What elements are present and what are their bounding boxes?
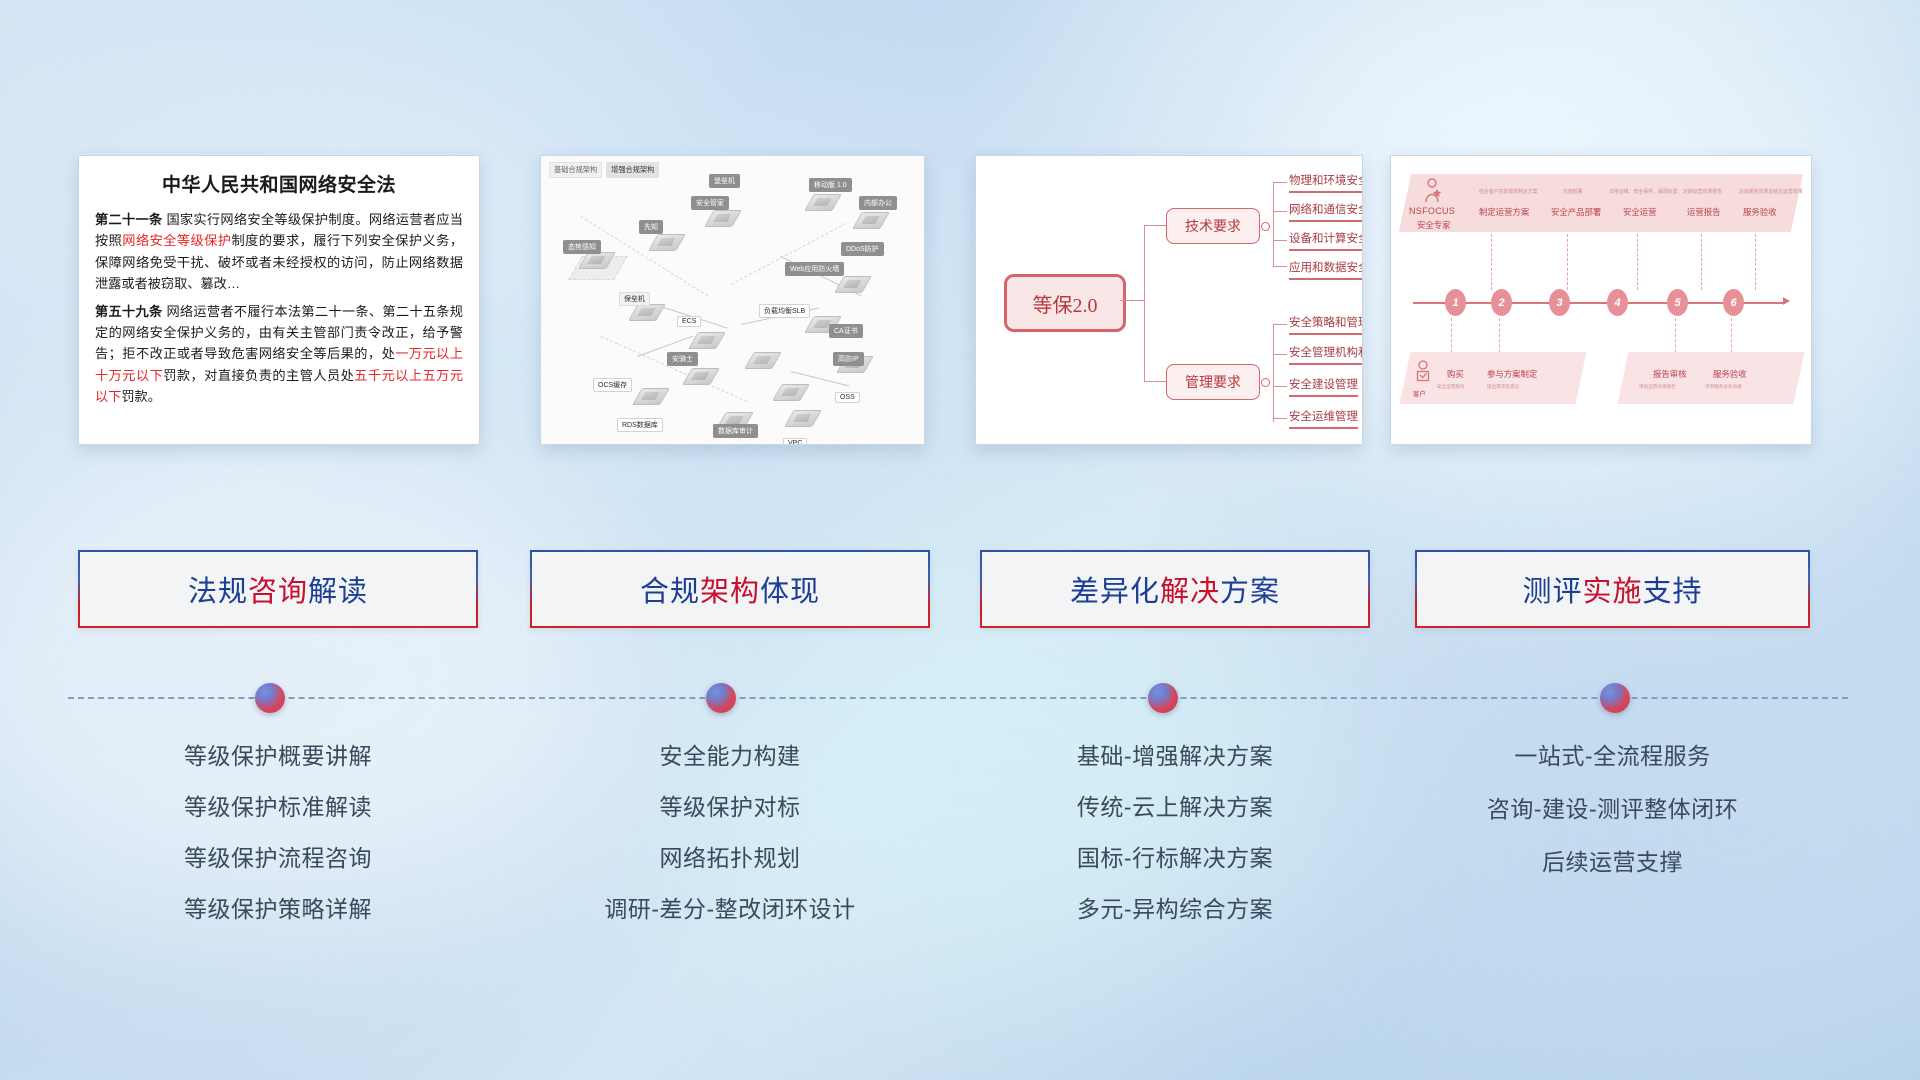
mindmap-leaf: 物理和环境安全 (1289, 172, 1363, 193)
category-label-1: 法规咨询解读 (188, 568, 368, 610)
law-title: 中华人民共和国网络安全法 (95, 170, 463, 197)
customer-person-icon (1415, 360, 1433, 389)
category-box-regulation[interactable]: 法规咨询解读 (78, 550, 478, 628)
category-box-architecture[interactable]: 合规架构体现 (530, 550, 930, 628)
arch-node-ddos: DDoS防护 (841, 242, 884, 256)
arch-node-bastion-2: 保垒机 (619, 292, 650, 306)
category-label-4: 测评实施支持 (1522, 568, 1702, 610)
timeline-stem (1567, 234, 1568, 290)
timeline-bottom-label: 服务验收 (1713, 368, 1747, 380)
mindmap-leaf: 设备和计算安全 (1289, 230, 1363, 251)
mindmap-leaf: 安全管理机构和人员 (1289, 344, 1363, 365)
list-item: 网络拓扑规划 (530, 847, 930, 870)
timeline-bottom-note: 审核运营效果报告 (1639, 384, 1676, 390)
arch-node-situational: 态势感知 (563, 240, 601, 254)
category-box-solution[interactable]: 差异化解决方案 (980, 550, 1370, 628)
article-21-label: 第二十一条 (95, 212, 162, 227)
list-item: 国标-行标解决方案 (980, 847, 1370, 870)
mindmap-connector (1273, 418, 1287, 419)
timeline-top-band (1399, 174, 1803, 232)
timeline-top-note: 日常运维、安全事件、漏洞处置 (1609, 188, 1677, 195)
brand-subtitle: 安全专家 (1417, 219, 1451, 231)
timeline-top-label: 运营报告 (1687, 206, 1721, 218)
category-label-3: 差异化解决方案 (1070, 568, 1280, 610)
arch-node-rds: RDS数据库 (617, 418, 663, 432)
mindmap-connector (1273, 240, 1287, 241)
timeline-step-5: 5 (1667, 289, 1688, 316)
expert-person-icon (1423, 178, 1443, 209)
detail-list-2: 安全能力构建 等级保护对标 网络拓扑规划 调研-差分-整改闭环设计 (530, 745, 930, 949)
mindmap-node-dot (1261, 222, 1270, 231)
arch-node-security-butler: 安全管家 (691, 196, 729, 210)
category-3-part-c: 方案 (1220, 576, 1280, 608)
detail-list-2-items: 安全能力构建 等级保护对标 网络拓扑规划 调研-差分-整改闭环设计 (530, 745, 930, 921)
mindmap-card: 等保2.0 技术要求 物理和环境安全 网络和通信安全 设备和计算安全 应用和数据… (975, 155, 1363, 445)
detail-list-1: 等级保护概要讲解 等级保护标准解读 等级保护流程咨询 等级保护策略详解 (78, 745, 478, 949)
list-item: 等级保护概要讲解 (78, 745, 478, 768)
list-item: 等级保护标准解读 (78, 796, 478, 819)
mindmap-leaf: 安全运维管理 (1289, 408, 1358, 429)
arch-cube (704, 210, 742, 227)
article-59-post: 罚款。 (121, 389, 161, 404)
arch-node-vpc: VPC (783, 438, 807, 445)
rail-bead-1 (255, 683, 285, 713)
rail-bead-3 (1148, 683, 1178, 713)
list-item: 等级保护对标 (530, 796, 930, 819)
timeline-top-label: 安全运营 (1623, 206, 1657, 218)
mindmap-branch-management: 管理要求 (1166, 364, 1260, 400)
mindmap-connector (1273, 354, 1287, 355)
arch-cube (784, 410, 822, 427)
arch-node-anqishi: 安骑士 (667, 352, 698, 366)
category-box-assessment[interactable]: 测评实施支持 (1415, 550, 1810, 628)
category-4-part-b: 实施 (1582, 576, 1642, 608)
law-card: 中华人民共和国网络安全法 第二十一条 国家实行网络安全等级保护制度。网络运营者应… (78, 155, 480, 445)
category-2-part-b: 架构 (700, 576, 760, 608)
category-4-part-c: 支持 (1643, 576, 1703, 608)
arch-node-ocs: OCS缓存 (593, 378, 632, 392)
timeline-top-label: 制定运营方案 (1479, 206, 1529, 218)
list-item: 等级保护策略详解 (78, 898, 478, 921)
timeline-bottom-label: 参与方案制定 (1487, 368, 1537, 380)
timeline-bottom-note: 安全运营服务 (1437, 384, 1465, 390)
mindmap-leaf: 安全策略和管理制度 (1289, 314, 1363, 335)
mindmap-connector (1273, 182, 1274, 266)
arch-node-ecs: ECS (677, 316, 701, 327)
architecture-card: 基础合规架构 增强合规架构 (540, 155, 925, 445)
category-2-part-c: 体现 (760, 576, 820, 608)
timeline-step-1: 1 (1445, 289, 1466, 316)
mindmap-connector (1144, 225, 1166, 226)
timeline-bottom-note: 提出需求及建议 (1487, 384, 1519, 390)
architecture-canvas: 态势感知 先知 安全管家 堡垒机 保垒机 ECS 安骑士 OCS缓存 RDS数据… (541, 156, 924, 444)
mindmap-connector (1144, 300, 1145, 381)
arch-node-ca: CA证书 (829, 324, 863, 338)
mindmap-connector (1273, 266, 1287, 267)
timeline-step-3: 3 (1549, 289, 1570, 316)
slide-stage: 中华人民共和国网络安全法 第二十一条 国家实行网络安全等级保护制度。网络运营者应… (0, 0, 1920, 1080)
mindmap-node-dot (1261, 378, 1270, 387)
category-2-part-a: 合规 (640, 576, 700, 608)
arch-cube (648, 234, 686, 251)
category-1-part-c: 解读 (308, 576, 368, 608)
timeline-bottom-label: 购买 (1447, 368, 1464, 380)
article-59-mid: 罚款，对直接负责的主管人员处 (163, 368, 354, 383)
arch-node-slb: 负载均衡SLB (759, 304, 810, 318)
mindmap-connector (1273, 211, 1287, 212)
arch-node-waf: Web应用防火墙 (785, 262, 844, 276)
service-timeline: NSFOCUS 安全专家 结合客户实际需求制定方案 实施部署 日常运维、安全事件… (1391, 156, 1811, 444)
architecture-diagram: 基础合规架构 增强合规架构 (541, 156, 924, 444)
arch-cube (688, 332, 726, 349)
arch-cube (682, 368, 720, 385)
arch-cube (852, 212, 890, 229)
category-4-part-a: 测评 (1522, 576, 1582, 608)
arch-cube (772, 384, 810, 401)
timeline-bottom-band-right (1617, 352, 1804, 404)
timeline-bottom-note: 评审服务总体效果 (1705, 384, 1742, 390)
mindmap: 等保2.0 技术要求 物理和环境安全 网络和通信安全 设备和计算安全 应用和数据… (976, 156, 1362, 444)
customer-label: 客户 (1413, 389, 1426, 398)
list-item: 调研-差分-整改闭环设计 (530, 898, 930, 921)
list-item: 多元-异构综合方案 (980, 898, 1370, 921)
rail-bead-4 (1600, 683, 1630, 713)
law-body: 中华人民共和国网络安全法 第二十一条 国家实行网络安全等级保护制度。网络运营者应… (79, 156, 479, 444)
arch-cube (628, 304, 666, 321)
article-59-label: 第五十九条 (95, 304, 162, 319)
law-article-21: 第二十一条 国家实行网络安全等级保护制度。网络运营者应当按照网络安全等级保护制度… (95, 209, 463, 295)
detail-list-1-items: 等级保护概要讲解 等级保护标准解读 等级保护流程咨询 等级保护策略详解 (78, 745, 478, 921)
timeline-step-4: 4 (1607, 289, 1628, 316)
mindmap-connector (1273, 324, 1274, 422)
mindmap-connector (1273, 386, 1287, 387)
timeline-top-label: 安全产品部署 (1551, 206, 1601, 218)
arch-cube (632, 388, 670, 405)
arch-link (601, 336, 748, 402)
timeline-arrow-icon (1783, 297, 1790, 305)
timeline-stem (1755, 234, 1756, 290)
mindmap-leaf: 应用和数据安全 (1289, 259, 1363, 280)
list-item: 等级保护流程咨询 (78, 847, 478, 870)
mindmap-branch-technical: 技术要求 (1166, 208, 1260, 244)
category-3-part-a: 差异化 (1070, 576, 1160, 608)
mindmap-leaf: 安全建设管理 (1289, 376, 1358, 397)
category-1-part-a: 法规 (188, 576, 248, 608)
timeline-step-2: 2 (1491, 289, 1512, 316)
category-3-part-b: 解决 (1160, 576, 1220, 608)
arch-node-office: 内部办公 (859, 196, 897, 210)
arch-node-bastion: 堡垒机 (709, 174, 740, 188)
mindmap-root: 等保2.0 (1004, 274, 1126, 332)
arch-node-oss: OSS (835, 392, 860, 403)
timeline-stem (1637, 234, 1638, 290)
detail-list-3: 基础-增强解决方案 传统-云上解决方案 国标-行标解决方案 多元-异构综合方案 (980, 745, 1370, 949)
timeline-step-6: 6 (1723, 289, 1744, 316)
timeline-rail (68, 697, 1848, 699)
law-article-59: 第五十九条 网络运营者不履行本法第二十一条、第二十五条规定的网络安全保护义务的，… (95, 301, 463, 408)
list-item: 安全能力构建 (530, 745, 930, 768)
mindmap-connector (1144, 225, 1145, 303)
category-1-part-b: 咨询 (248, 576, 308, 608)
timeline-top-label: 服务验收 (1743, 206, 1777, 218)
category-label-2: 合规架构体现 (640, 568, 820, 610)
mindmap-leaf: 网络和通信安全 (1289, 201, 1363, 222)
list-item: 一站式-全流程服务 (1415, 745, 1810, 768)
arch-node-db-audit: 数据库审计 (713, 424, 758, 438)
arch-node-highdefense-ip: 高防IP (833, 352, 864, 366)
arch-cube (804, 194, 842, 211)
mindmap-connector (1273, 324, 1287, 325)
mindmap-connector (1144, 381, 1166, 382)
article-21-highlight: 网络安全等级保护 (122, 233, 231, 248)
timeline-stem (1701, 234, 1702, 290)
detail-list-4: 一站式-全流程服务 咨询-建设-测评整体闭环 后续运营支撑 (1415, 745, 1810, 904)
timeline-top-note: 结合客户实际需求制定方案 (1479, 188, 1538, 195)
timeline-stem (1491, 234, 1492, 290)
list-item: 咨询-建设-测评整体闭环 (1415, 798, 1810, 821)
list-item: 传统-云上解决方案 (980, 796, 1370, 819)
arch-cube (744, 352, 782, 369)
detail-list-4-items: 一站式-全流程服务 咨询-建设-测评整体闭环 后续运营支撑 (1415, 745, 1810, 874)
detail-list-3-items: 基础-增强解决方案 传统-云上解决方案 国标-行标解决方案 多元-异构综合方案 (980, 745, 1370, 921)
timeline-top-note: 总体服务效果总结及运营成果 (1739, 188, 1803, 195)
timeline-top-note: 实施部署 (1563, 188, 1583, 195)
arch-cube (834, 276, 872, 293)
mindmap-connector (1120, 300, 1144, 301)
arch-node-prophet: 先知 (639, 220, 663, 234)
list-item: 基础-增强解决方案 (980, 745, 1370, 768)
arch-node-mobile: 移动版 1.0 (809, 178, 852, 192)
service-timeline-card: NSFOCUS 安全专家 结合客户实际需求制定方案 实施部署 日常运维、安全事件… (1390, 155, 1812, 445)
timeline-bottom-label: 报告审核 (1653, 368, 1687, 380)
list-item: 后续运营支撑 (1415, 851, 1810, 874)
rail-bead-2 (706, 683, 736, 713)
mindmap-connector (1273, 182, 1287, 183)
timeline-top-note: 定期运营效果报告 (1683, 188, 1722, 195)
brand-name: NSFOCUS (1409, 206, 1455, 216)
